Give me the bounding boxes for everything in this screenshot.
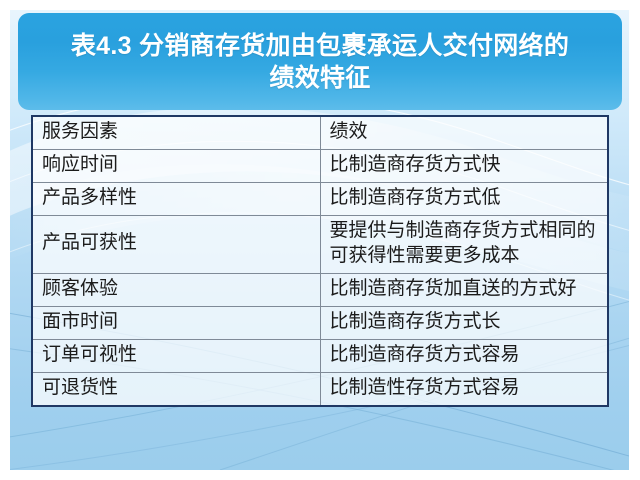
table-row: 面市时间 比制造商存货方式长 [32,306,608,339]
table-header-row: 服务因素 绩效 [32,116,608,150]
cell-service-factor: 响应时间 [32,150,320,183]
cell-service-factor: 订单可视性 [32,339,320,372]
cell-performance: 比制造商存货方式长 [320,306,608,339]
cell-service-factor: 产品可获性 [32,216,320,273]
cell-performance: 比制造商存货方式快 [320,150,608,183]
page-title-line-1: 表4.3 分销商存货加由包裹承运人交付网络的 [71,32,569,60]
table-row: 顾客体验 比制造商存货加直送的方式好 [32,273,608,306]
slide-canvas: 表4.3 分销商存货加由包裹承运人交付网络的 绩效特征 服务因素 绩效 响应时间… [10,10,629,470]
performance-table: 服务因素 绩效 响应时间 比制造商存货方式快 产品多样性 比制造商存货方式低 产… [31,115,609,407]
cell-performance: 比制造性存货方式容易 [320,373,608,407]
table-row: 可退货性 比制造性存货方式容易 [32,373,608,407]
table-row: 产品多样性 比制造商存货方式低 [32,183,608,216]
performance-table-container: 服务因素 绩效 响应时间 比制造商存货方式快 产品多样性 比制造商存货方式低 产… [31,115,609,407]
page-title: 表4.3 分销商存货加由包裹承运人交付网络的 绩效特征 [71,30,569,94]
column-header-performance: 绩效 [320,116,608,150]
column-header-service-factor: 服务因素 [32,116,320,150]
cell-performance: 比制造商存货方式低 [320,183,608,216]
cell-performance: 比制造商存货方式容易 [320,339,608,372]
table-row: 响应时间 比制造商存货方式快 [32,150,608,183]
table-row: 订单可视性 比制造商存货方式容易 [32,339,608,372]
cell-performance: 要提供与制造商存货方式相同的可获得性需要更多成本 [320,216,608,273]
cell-service-factor: 顾客体验 [32,273,320,306]
table-row: 产品可获性 要提供与制造商存货方式相同的可获得性需要更多成本 [32,216,608,273]
title-banner: 表4.3 分销商存货加由包裹承运人交付网络的 绩效特征 [18,13,622,110]
slide: 表4.3 分销商存货加由包裹承运人交付网络的 绩效特征 服务因素 绩效 响应时间… [0,0,640,480]
page-title-line-2: 绩效特征 [269,64,370,92]
cell-service-factor: 产品多样性 [32,183,320,216]
cell-performance: 比制造商存货加直送的方式好 [320,273,608,306]
cell-service-factor: 可退货性 [32,373,320,407]
cell-service-factor: 面市时间 [32,306,320,339]
